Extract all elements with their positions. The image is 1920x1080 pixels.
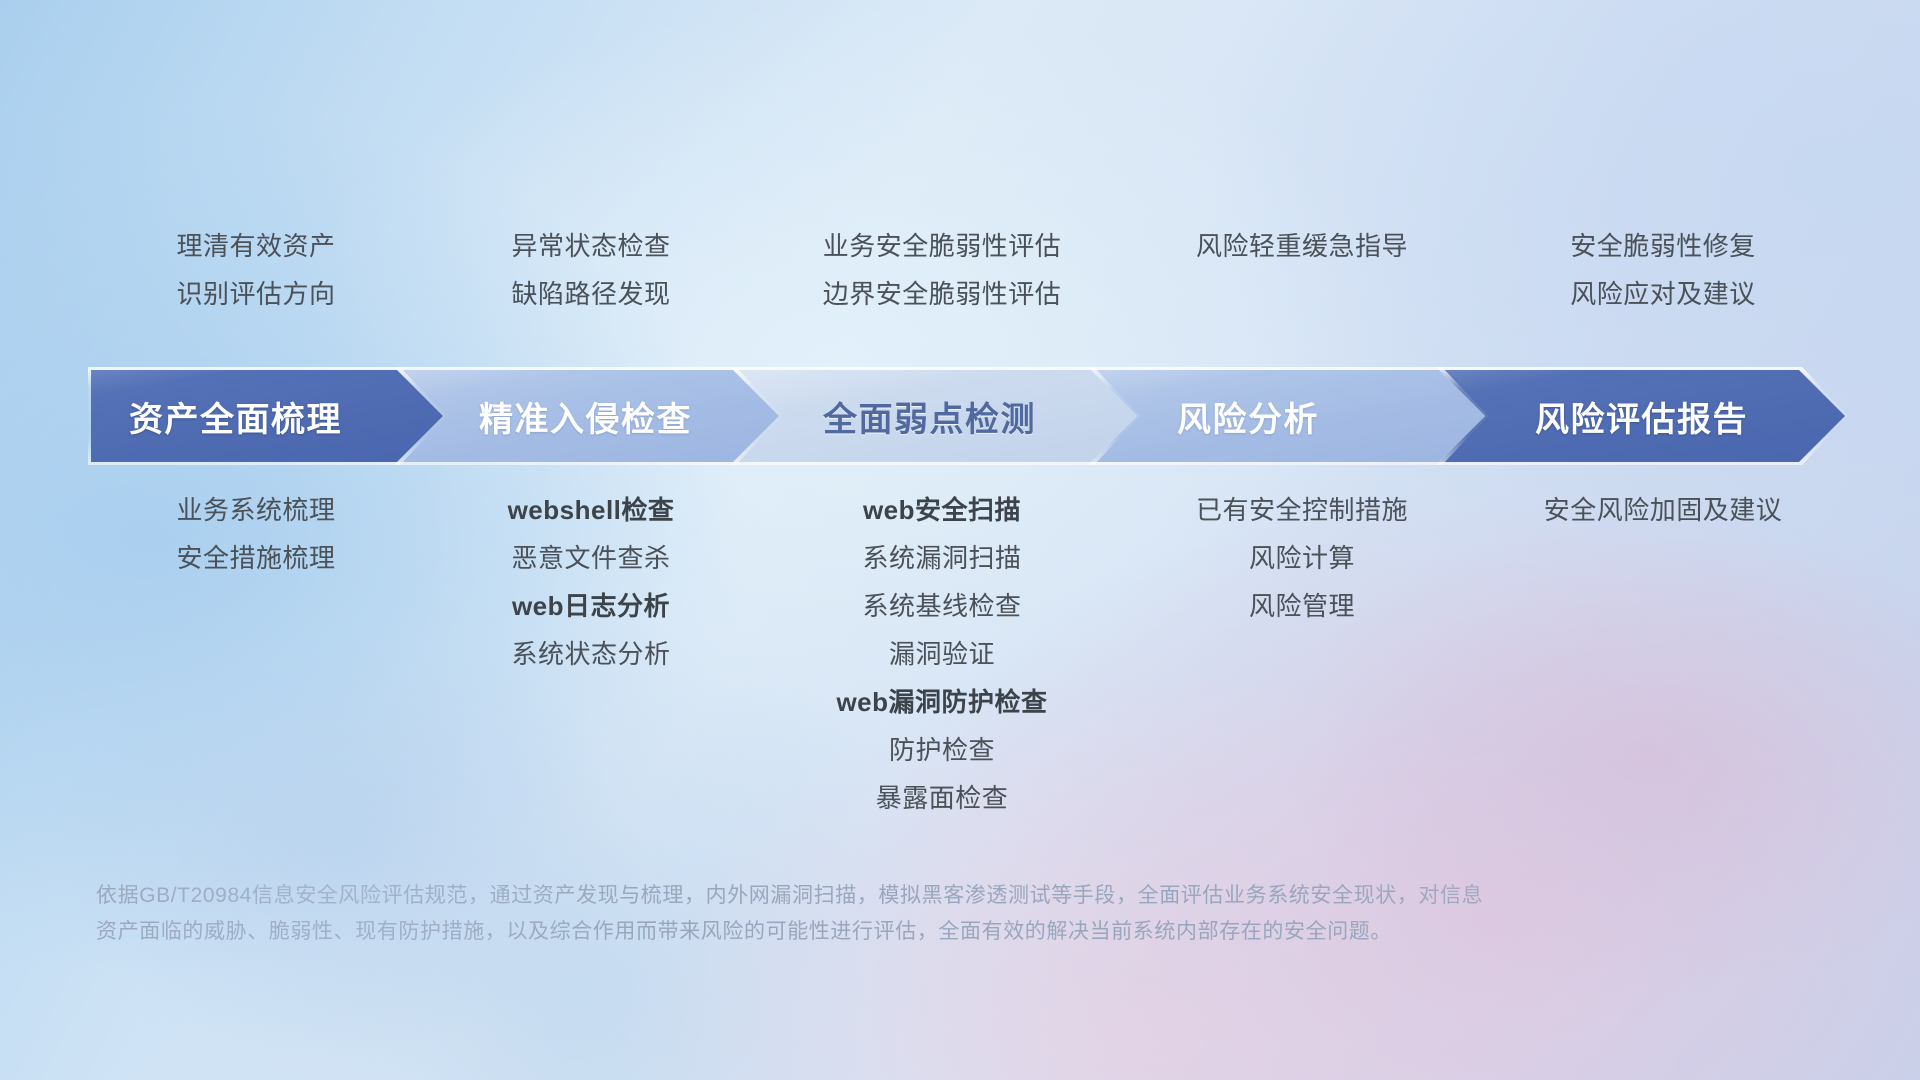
- caption-text: 边界安全脆弱性评估: [823, 270, 1062, 318]
- bottom-captions-row: 业务系统梳理安全措施梳理 webshell检查恶意文件查杀web日志分析系统状态…: [91, 486, 1845, 786]
- caption-text: 风险应对及建议: [1570, 270, 1756, 318]
- caption-text: 理清有效资产: [176, 222, 335, 270]
- caption-text: web安全扫描: [863, 486, 1021, 534]
- caption-text: 已有安全控制措施: [1196, 486, 1408, 534]
- process-stage-5[interactable]: 风险评估报告: [1439, 370, 1845, 462]
- bottom-captions-stage-4: 已有安全控制措施风险计算风险管理: [1123, 486, 1481, 630]
- caption-text: web日志分析: [512, 582, 670, 630]
- caption-text: 防护检查: [889, 726, 995, 774]
- caption-text: 异常状态检查: [511, 222, 670, 270]
- caption-text: 系统漏洞扫描: [862, 534, 1021, 582]
- process-chevron-bar: 资产全面梳理 精准入侵检查 全面弱点检测 风险分析 风险评估报告: [91, 370, 1845, 462]
- process-stage-label: 资产全面梳理: [129, 392, 342, 441]
- caption-text: 风险管理: [1249, 582, 1355, 630]
- top-captions-stage-3: 业务安全脆弱性评估 边界安全脆弱性评估: [761, 222, 1123, 318]
- process-stage-label: 风险评估报告: [1535, 392, 1748, 441]
- caption-text: 缺陷路径发现: [511, 270, 670, 318]
- bottom-captions-stage-5: 安全风险加固及建议: [1481, 486, 1845, 534]
- caption-text: 业务系统梳理: [176, 486, 335, 534]
- top-captions-stage-5: 安全脆弱性修复 风险应对及建议: [1481, 222, 1845, 318]
- caption-text: 安全脆弱性修复: [1570, 222, 1756, 270]
- process-stage-4[interactable]: 风险分析: [1091, 370, 1485, 462]
- top-captions-stage-4: 风险轻重缓急指导: [1123, 222, 1481, 270]
- caption-text: 暴露面检查: [876, 774, 1009, 822]
- caption-text: 业务安全脆弱性评估: [823, 222, 1062, 270]
- footer-line-1: 依据GB/T20984信息安全风险评估规范，通过资产发现与梳理，内外网漏洞扫描，…: [96, 878, 1716, 914]
- caption-text: 安全风险加固及建议: [1544, 486, 1783, 534]
- caption-text: webshell检查: [508, 486, 675, 534]
- process-stage-label: 精准入侵检查: [479, 392, 692, 441]
- process-stage-1[interactable]: 资产全面梳理: [91, 370, 443, 462]
- process-stage-2[interactable]: 精准入侵检查: [397, 370, 779, 462]
- caption-text: 系统基线检查: [862, 582, 1021, 630]
- caption-text: 漏洞验证: [889, 630, 995, 678]
- caption-text: 系统状态分析: [511, 630, 670, 678]
- footer-line-2: 资产面临的威胁、脆弱性、现有防护措施，以及综合作用而带来风险的可能性进行评估，全…: [96, 914, 1716, 950]
- top-captions-stage-2: 异常状态检查 缺陷路径发现: [421, 222, 761, 318]
- caption-text: web漏洞防护检查: [836, 678, 1047, 726]
- bottom-captions-stage-3: web安全扫描系统漏洞扫描系统基线检查漏洞验证web漏洞防护检查防护检查暴露面检…: [761, 486, 1123, 822]
- top-captions-stage-1: 理清有效资产 识别评估方向: [91, 222, 421, 318]
- process-stage-3[interactable]: 全面弱点检测: [733, 370, 1137, 462]
- slide-canvas: 理清有效资产 识别评估方向 异常状态检查 缺陷路径发现 业务安全脆弱性评估 边界…: [0, 0, 1920, 1080]
- footer-description: 依据GB/T20984信息安全风险评估规范，通过资产发现与梳理，内外网漏洞扫描，…: [96, 878, 1716, 950]
- caption-text: 安全措施梳理: [176, 534, 335, 582]
- caption-text: 风险计算: [1249, 534, 1355, 582]
- caption-text: 恶意文件查杀: [511, 534, 670, 582]
- bottom-captions-stage-1: 业务系统梳理安全措施梳理: [91, 486, 421, 582]
- top-captions-row: 理清有效资产 识别评估方向 异常状态检查 缺陷路径发现 业务安全脆弱性评估 边界…: [91, 222, 1845, 362]
- process-stage-label: 全面弱点检测: [823, 392, 1036, 441]
- process-stage-label: 风险分析: [1177, 392, 1319, 441]
- caption-text: 识别评估方向: [176, 270, 335, 318]
- bottom-captions-stage-2: webshell检查恶意文件查杀web日志分析系统状态分析: [421, 486, 761, 678]
- caption-text: 风险轻重缓急指导: [1196, 222, 1408, 270]
